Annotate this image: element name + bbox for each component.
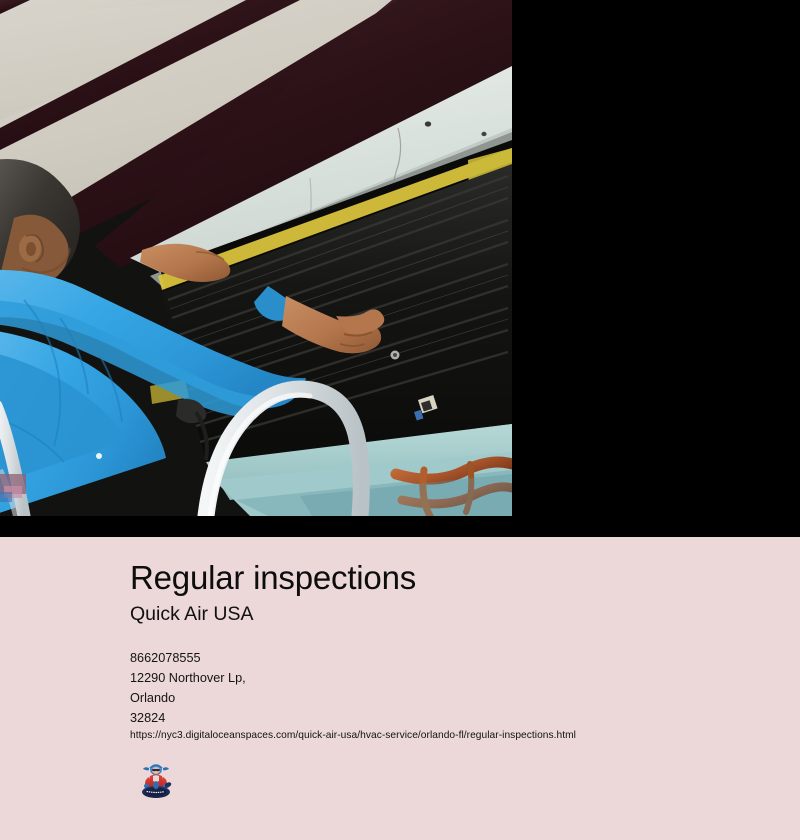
hero-photo xyxy=(0,0,512,516)
mascot-logo-icon xyxy=(138,761,174,800)
page-root: Regular inspections Quick Air USA 866207… xyxy=(0,0,800,840)
company-name: Quick Air USA xyxy=(130,601,254,627)
source-url[interactable]: https://nyc3.digitaloceanspaces.com/quic… xyxy=(130,729,576,743)
contact-street: 12290 Northover Lp, xyxy=(130,668,246,688)
page-title: Regular inspections xyxy=(130,558,416,598)
quick-air-usa-mascot-logo[interactable] xyxy=(138,761,174,800)
contact-phone[interactable]: 8662078555 xyxy=(130,648,246,668)
contact-block: 8662078555 12290 Northover Lp, Orlando 3… xyxy=(130,648,246,728)
hero-band xyxy=(0,0,800,537)
contact-zip: 32824 xyxy=(130,708,246,728)
hero-photo-illustration xyxy=(0,0,512,516)
contact-city: Orlando xyxy=(130,688,246,708)
